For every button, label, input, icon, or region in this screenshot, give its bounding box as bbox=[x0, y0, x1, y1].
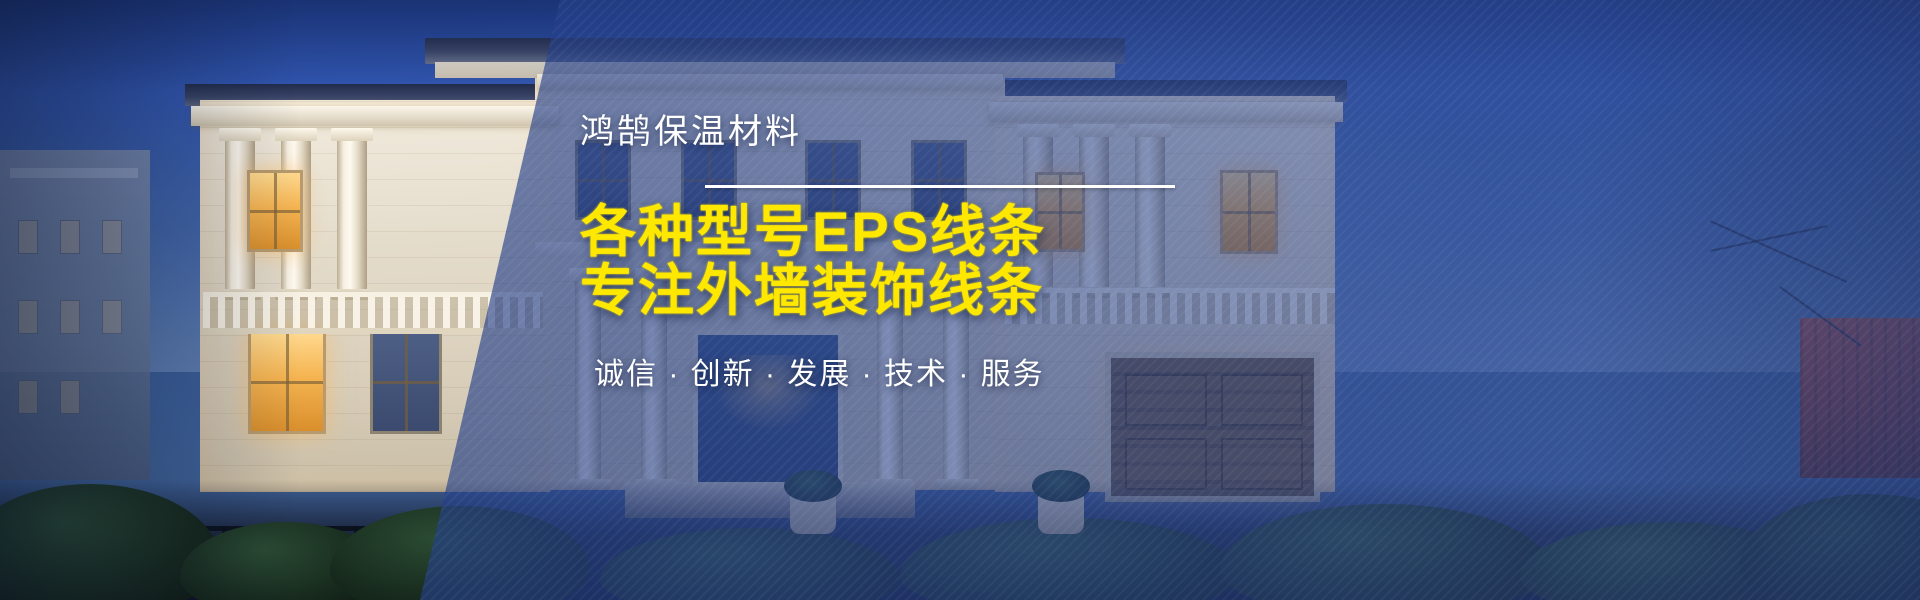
lit-window bbox=[248, 330, 326, 434]
headline-line-1: 各种型号EPS线条 bbox=[580, 202, 1220, 261]
tagline: 诚信 · 创新 · 发展 · 技术 · 服务 bbox=[594, 349, 1220, 393]
column bbox=[337, 140, 367, 290]
brand-name: 鸿鹄保温材料 bbox=[580, 104, 1220, 153]
headline-line-2: 专注外墙装饰线条 bbox=[580, 261, 1220, 320]
lit-window bbox=[247, 170, 303, 252]
planter bbox=[1038, 494, 1084, 534]
promo-banner: 鸿鹄保温材料 各种型号EPS线条 专注外墙装饰线条 诚信 · 创新 · 发展 ·… bbox=[0, 0, 1920, 600]
red-container bbox=[1800, 318, 1920, 478]
planter bbox=[790, 494, 836, 534]
headline-group: 各种型号EPS线条 专注外墙装饰线条 bbox=[580, 202, 1220, 321]
banner-copy: 鸿鹄保温材料 各种型号EPS线条 专注外墙装饰线条 诚信 · 创新 · 发展 ·… bbox=[580, 104, 1220, 393]
lit-window bbox=[1220, 170, 1278, 254]
left-cornice bbox=[191, 106, 559, 126]
center-cornice bbox=[537, 74, 1003, 90]
main-roofline bbox=[425, 38, 1125, 64]
balcony-balustrade bbox=[203, 292, 543, 334]
headline-divider bbox=[705, 185, 1175, 188]
dark-window bbox=[370, 330, 442, 434]
